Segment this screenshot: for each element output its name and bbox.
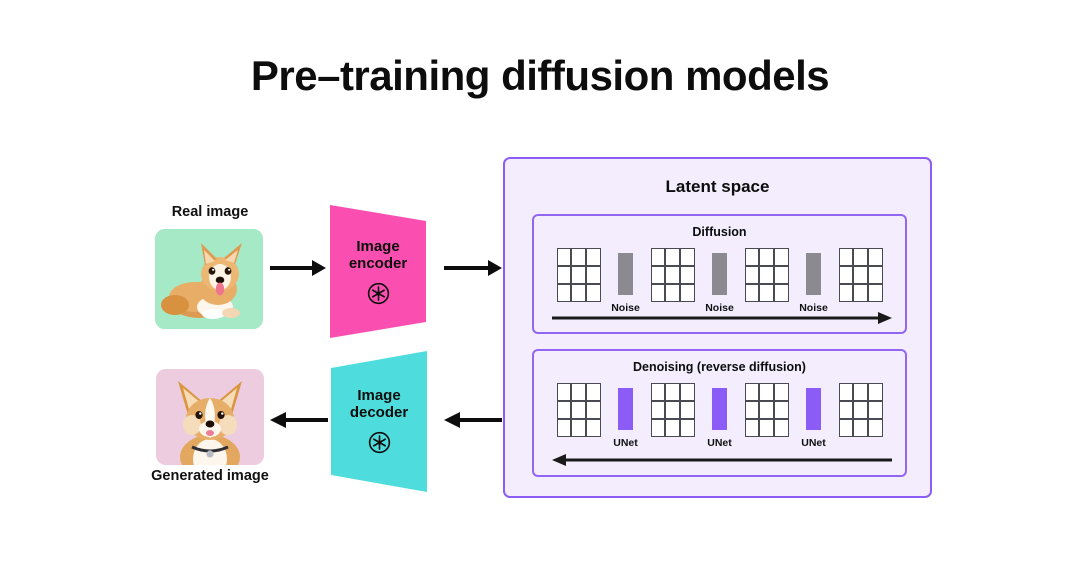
- latent-grid-0: [555, 381, 602, 439]
- real-image-label: Real image: [145, 204, 275, 220]
- latent-grid-1: [649, 246, 696, 304]
- real-image-thumbnail: [155, 229, 263, 329]
- unet-op-0: UNet: [602, 381, 649, 449]
- denoising-flow-arrow: [552, 452, 892, 468]
- image-decoder-block[interactable]: Image decoder: [331, 351, 427, 492]
- latent-grid-3: [837, 381, 884, 439]
- unet-label: UNet: [801, 437, 826, 449]
- corgi-lying-illustration: [155, 229, 263, 329]
- latent-space-title: Latent space: [505, 177, 930, 197]
- unet-chip: [712, 388, 727, 430]
- arrow-encoder-to-latent: [444, 256, 502, 280]
- generated-image-label: Generated image: [120, 468, 300, 484]
- diffusion-step-row: Noise Noise Noise: [534, 246, 905, 314]
- diffusion-stage-panel: Diffusion Noise Noise: [532, 214, 907, 334]
- latent-space-panel: Latent space Diffusion Noise Noise: [503, 157, 932, 498]
- denoising-stage-panel: Denoising (reverse diffusion) UNet UNet: [532, 349, 907, 477]
- noise-chip: [806, 253, 821, 295]
- arrow-decoder-to-image: [270, 408, 328, 432]
- diffusion-stage-title: Diffusion: [534, 225, 905, 239]
- latent-grid-2: [743, 246, 790, 304]
- unet-label: UNet: [707, 437, 732, 449]
- latent-grid-0: [555, 246, 602, 304]
- denoising-stage-title: Denoising (reverse diffusion): [534, 360, 905, 374]
- unet-op-2: UNet: [790, 381, 837, 449]
- noise-chip: [618, 253, 633, 295]
- page-title: Pre–training diffusion models: [0, 52, 1080, 100]
- denoising-step-row: UNet UNet UNet: [534, 381, 905, 449]
- encoder-trapezoid-shape: [330, 205, 426, 338]
- unet-chip: [806, 388, 821, 430]
- unet-op-1: UNet: [696, 381, 743, 449]
- unet-label: UNet: [613, 437, 638, 449]
- noise-chip: [712, 253, 727, 295]
- latent-grid-1: [649, 381, 696, 439]
- latent-grid-3: [837, 246, 884, 304]
- latent-grid-2: [743, 381, 790, 439]
- unet-chip: [618, 388, 633, 430]
- image-encoder-block[interactable]: Image encoder: [330, 205, 426, 338]
- arrow-latent-to-decoder: [444, 408, 502, 432]
- diagram-canvas: Pre–training diffusion models Real image: [0, 0, 1080, 565]
- arrow-image-to-encoder: [270, 256, 326, 280]
- noise-op-1: Noise: [696, 246, 743, 314]
- noise-op-0: Noise: [602, 246, 649, 314]
- decoder-trapezoid-shape: [331, 351, 427, 492]
- noise-op-2: Noise: [790, 246, 837, 314]
- corgi-portrait-illustration: [156, 369, 264, 465]
- generated-image-thumbnail: [156, 369, 264, 465]
- diffusion-flow-arrow: [552, 310, 892, 326]
